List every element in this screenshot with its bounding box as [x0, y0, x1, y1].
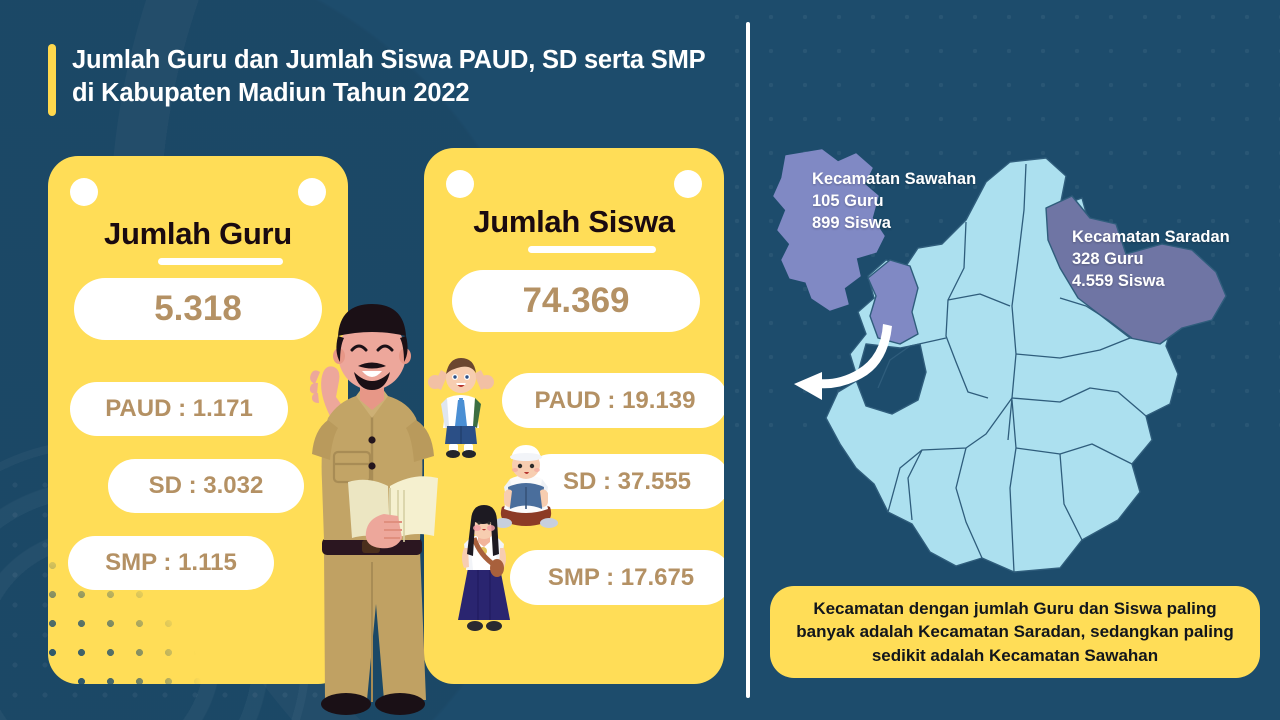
siswa-total-pill: 74.369 — [452, 270, 700, 332]
siswa-paud-pill: PAUD : 19.139 — [502, 373, 724, 428]
map-label-saradan: Kecamatan Saradan 328 Guru 4.559 Siswa — [1072, 226, 1230, 292]
student-cheering-illustration — [425, 356, 497, 460]
madiun-regency-map: Kecamatan Sawahan 105 Guru 899 Siswa Kec… — [760, 148, 1270, 578]
left-panel: Jumlah Guru dan Jumlah Siswa PAUD, SD se… — [0, 0, 747, 720]
map-label-saradan-teachers: 328 Guru — [1072, 248, 1230, 270]
card-punch-hole-left — [446, 170, 474, 198]
heading-accent-bar — [48, 44, 56, 116]
card-title-siswa: Jumlah Siswa — [424, 204, 724, 240]
guru-paud-pill: PAUD : 1.171 — [70, 382, 288, 436]
map-region-sawahan-onmap — [868, 260, 918, 344]
map-label-sawahan-teachers: 105 Guru — [812, 190, 976, 212]
map-label-sawahan-name: Kecamatan Sawahan — [812, 168, 976, 190]
card-punch-hole-left — [70, 178, 98, 206]
card-title-underline — [158, 258, 283, 265]
map-label-saradan-name: Kecamatan Saradan — [1072, 226, 1230, 248]
card-title-guru: Jumlah Guru — [48, 216, 348, 252]
summary-note-box: Kecamatan dengan jumlah Guru dan Siswa p… — [770, 586, 1260, 678]
card-punch-hole-right — [298, 178, 326, 206]
map-label-saradan-students: 4.559 Siswa — [1072, 270, 1230, 292]
left-panel-heading: Jumlah Guru dan Jumlah Siswa PAUD, SD se… — [48, 44, 708, 116]
summary-note-text: Kecamatan dengan jumlah Guru dan Siswa p… — [786, 597, 1244, 666]
left-heading-text: Jumlah Guru dan Jumlah Siswa PAUD, SD se… — [72, 44, 708, 110]
card-punch-hole-right — [674, 170, 702, 198]
student-girl-illustration — [452, 504, 516, 636]
map-label-sawahan: Kecamatan Sawahan 105 Guru 899 Siswa — [812, 168, 976, 234]
guru-smp-pill: SMP : 1.115 — [68, 536, 274, 590]
map-label-sawahan-students: 899 Siswa — [812, 212, 976, 234]
siswa-smp-pill: SMP : 17.675 — [510, 550, 724, 605]
card-title-underline — [528, 246, 656, 253]
